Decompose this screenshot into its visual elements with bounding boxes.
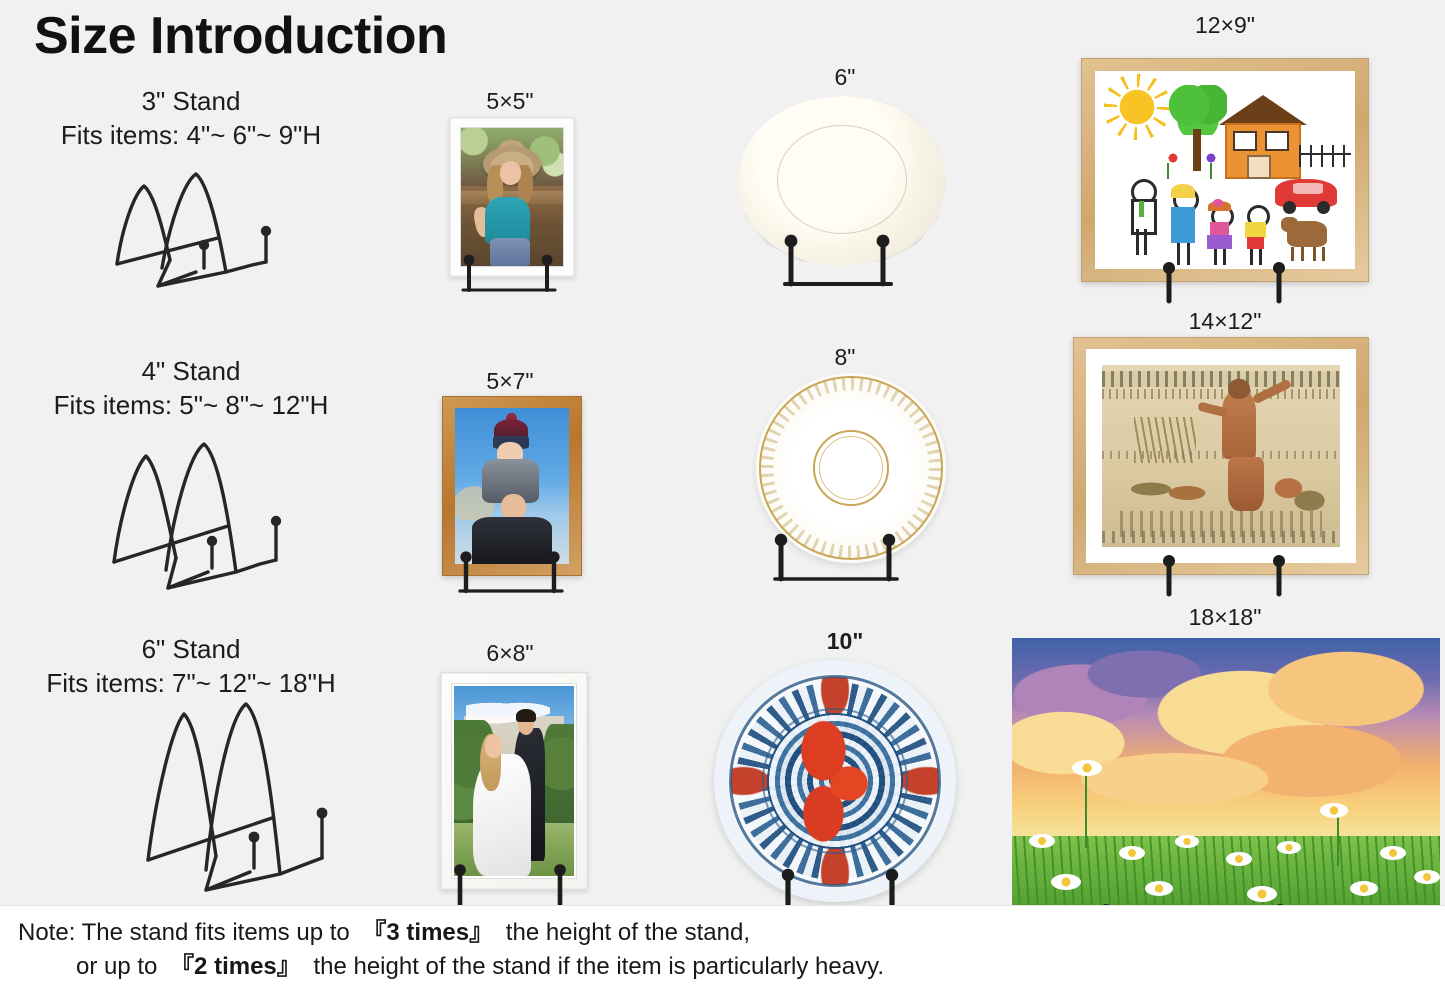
wire-easel-stand-icon	[1153, 255, 1313, 303]
wire-easel-stand-icon	[100, 168, 290, 288]
note-line1-post: the height of the stand,	[506, 919, 750, 946]
wire-easel-stand-icon	[140, 700, 340, 896]
size-introduction-chart: Size Introduction 3" Stand Fits items: 4…	[0, 0, 1445, 984]
artwork-size-label-18x18: 18×18"	[1100, 604, 1350, 631]
stand-name-4in: 4" Stand	[0, 354, 386, 388]
page-title: Size Introduction	[34, 6, 447, 66]
artwork-frame-14x12	[1073, 337, 1369, 575]
note-line2-pre: or up to	[76, 953, 157, 980]
stand-fits-3in: Fits items: 4"~ 6"~ 9"H	[0, 118, 386, 152]
plate-size-label-6in: 6"	[770, 64, 920, 91]
wire-easel-stand-icon	[765, 525, 915, 581]
artwork-size-label-14x12: 14×12"	[1100, 308, 1350, 335]
frame-size-label-5x5: 5×5"	[415, 88, 605, 115]
plate-size-label-10in: 10"	[770, 628, 920, 655]
stand-name-6in: 6" Stand	[0, 632, 386, 666]
note-line2-post: the height of the stand if the item is p…	[313, 953, 884, 980]
note-line1-pre: Note: The stand fits items up to	[18, 919, 350, 946]
note-line1-emphasis: 『3 times』	[362, 919, 493, 946]
wire-easel-stand-icon	[1153, 548, 1313, 596]
stand-fits-4in: Fits items: 5"~ 8"~ 12"H	[0, 388, 386, 422]
plate-size-label-8in: 8"	[770, 344, 920, 371]
frame-size-label-5x7: 5×7"	[415, 368, 605, 395]
note-line2-emphasis: 『2 times』	[170, 953, 301, 980]
note-text: Note: The stand fits items up to 『3 time…	[18, 916, 884, 984]
father-and-child-photo	[455, 408, 569, 564]
stand-caption-6in: 6" Stand Fits items: 7"~ 12"~ 18"H	[0, 632, 386, 701]
artwork-canvas-18x18	[1012, 638, 1440, 938]
wire-easel-stand-icon	[100, 440, 296, 592]
stand-caption-4in: 4" Stand Fits items: 5"~ 8"~ 12"H	[0, 354, 386, 423]
girl-in-sun-hat-photo	[461, 128, 563, 266]
artwork-frame-12x9	[1081, 58, 1369, 282]
daisy-field-sunset-painting	[1012, 638, 1440, 938]
stand-fits-6in: Fits items: 7"~ 12"~ 18"H	[0, 666, 386, 700]
stand-caption-3in: 3" Stand Fits items: 4"~ 6"~ 9"H	[0, 84, 386, 153]
wire-easel-stand-icon	[450, 545, 590, 593]
artwork-size-label-12x9: 12×9"	[1135, 12, 1315, 39]
egyptian-papyrus-painting	[1102, 365, 1340, 547]
childs-crayon-drawing	[1095, 71, 1355, 269]
frame-size-label-6x8: 6×8"	[415, 640, 605, 667]
wire-easel-stand-icon	[444, 858, 590, 908]
wire-easel-stand-icon	[455, 248, 579, 292]
wedding-couple-photo	[454, 686, 574, 876]
note-bar: Note: The stand fits items up to 『3 time…	[0, 906, 1445, 984]
stand-name-3in: 3" Stand	[0, 84, 386, 118]
wire-easel-stand-icon	[775, 226, 907, 286]
